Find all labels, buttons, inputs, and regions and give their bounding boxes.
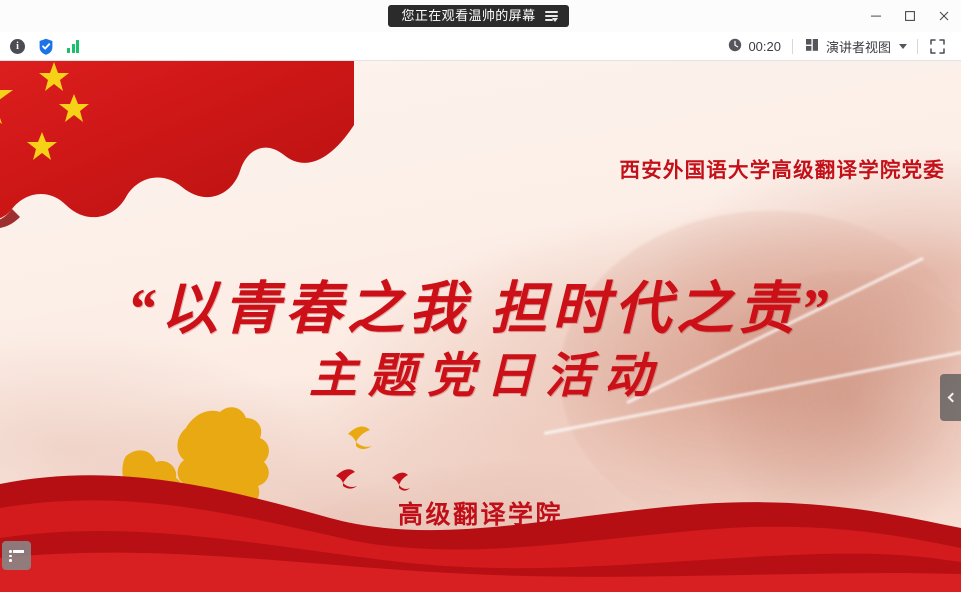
chinese-flag-graphic: [0, 61, 354, 277]
presenter-view-icon: [805, 38, 820, 55]
view-mode-label: 演讲者视图: [826, 37, 891, 56]
meeting-timer-value: 00:20: [748, 39, 781, 54]
security-shield-icon[interactable]: [38, 38, 54, 55]
meeting-timer: 00:20: [728, 38, 792, 55]
panel-collapse-tab[interactable]: [940, 374, 961, 421]
network-signal-icon[interactable]: [67, 40, 79, 53]
chevron-down-icon[interactable]: [899, 44, 907, 49]
slide-title-line-1: “以青春之我 担时代之责”: [0, 279, 961, 341]
screen-share-banner[interactable]: 您正在观看温帅的屏幕: [388, 5, 568, 27]
clock-icon: [728, 38, 742, 55]
window-titlebar: 您正在观看温帅的屏幕: [0, 0, 961, 32]
red-wave-graphic: [0, 442, 961, 592]
minimize-button[interactable]: [859, 0, 893, 32]
close-button[interactable]: [927, 0, 961, 32]
info-icon[interactable]: i: [10, 39, 25, 54]
maximize-button[interactable]: [893, 0, 927, 32]
fullscreen-button[interactable]: [918, 39, 951, 54]
organization-header: 西安外国语大学高级翻译学院党委: [620, 153, 946, 183]
toolbar-right-group: 00:20 演讲者视图: [728, 37, 951, 56]
shared-screen-slide: 西安外国语大学高级翻译学院党委 “以青春之我 担时代之责” 主题党日活动 高级翻…: [0, 61, 961, 592]
chevron-left-icon: [947, 393, 957, 403]
slide-list-button[interactable]: [2, 541, 31, 570]
list-icon: [9, 550, 24, 561]
toolbar-left-group: i: [10, 38, 79, 55]
view-mode-selector[interactable]: 演讲者视图: [793, 37, 917, 56]
window-controls: [859, 0, 961, 32]
list-menu-icon[interactable]: [545, 10, 558, 21]
meeting-toolbar: i 00:20: [0, 32, 961, 61]
screen-share-banner-label: 您正在观看温帅的屏幕: [401, 9, 535, 22]
